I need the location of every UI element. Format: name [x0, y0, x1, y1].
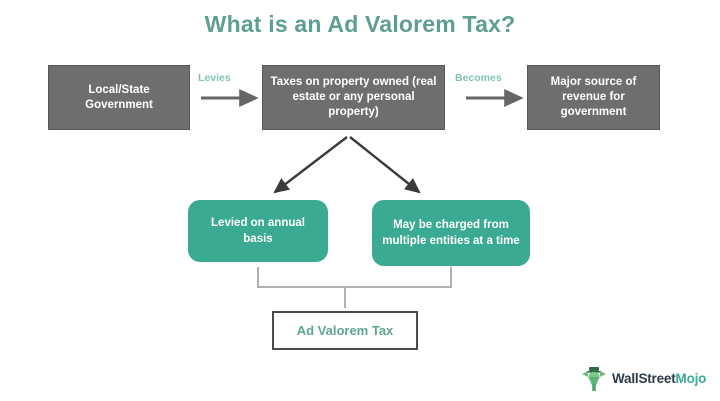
process-box-major-source-of-revenue: Major source of revenue for government	[527, 65, 660, 130]
logo-text-mojo: Mojo	[676, 371, 707, 386]
arrow-branch-right	[350, 137, 419, 192]
process-box-local-state-government: Local/State Government	[48, 65, 190, 130]
diagram-canvas: What is an Ad Valorem Tax? Local/State G…	[0, 0, 720, 401]
logo-wordmark: WallStreetMojo	[612, 371, 706, 386]
attribute-box-multiple-entities: May be charged from multiple entities at…	[372, 200, 530, 266]
arrow-branch-left	[275, 137, 347, 192]
wallstreetmojo-logo: WallStreetMojo	[578, 363, 712, 393]
logo-text-wallstreet: WallStreet	[612, 371, 676, 386]
bull-icon	[578, 364, 610, 392]
result-box-ad-valorem-tax: Ad Valorem Tax	[272, 311, 418, 350]
process-box-taxes-on-property: Taxes on property owned (real estate or …	[262, 65, 445, 130]
page-title: What is an Ad Valorem Tax?	[0, 11, 720, 38]
merge-bracket	[258, 267, 451, 287]
arrow-label-levies: Levies	[198, 72, 231, 84]
arrow-label-becomes: Becomes	[455, 72, 502, 84]
attribute-box-levied-on-annual-basis: Levied on annual basis	[188, 200, 328, 262]
